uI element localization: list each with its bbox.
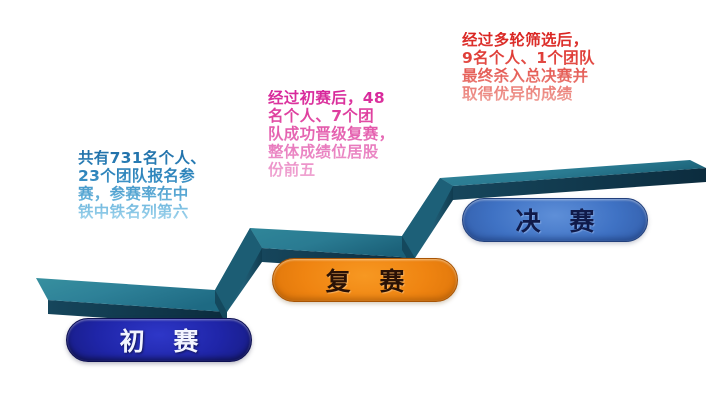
infographic-canvas: 共有731名个人、 23个团队报名参 赛，参赛率在中 铁中铁名列第六 经过初赛后… [0, 0, 720, 415]
stage-button-chusai[interactable]: 初 赛 [66, 318, 252, 362]
note-chusai: 共有731名个人、 23个团队报名参 赛，参赛率在中 铁中铁名列第六 [78, 150, 248, 222]
note-juesai: 经过多轮筛选后， 9名个人、1个团队 最终杀入总决赛并 取得优异的成绩 [462, 32, 648, 104]
riser-middle-to-upper [402, 178, 453, 258]
stage-button-juesai[interactable]: 决 赛 [462, 198, 648, 242]
stage-button-fusai[interactable]: 复 赛 [272, 258, 458, 302]
note-fusai: 经过初赛后，48 名个人、7个团 队成功晋级复赛， 整体成绩位居股 份前五 [268, 90, 440, 180]
upper-platform [440, 160, 706, 200]
riser-lower-to-middle [215, 228, 262, 312]
